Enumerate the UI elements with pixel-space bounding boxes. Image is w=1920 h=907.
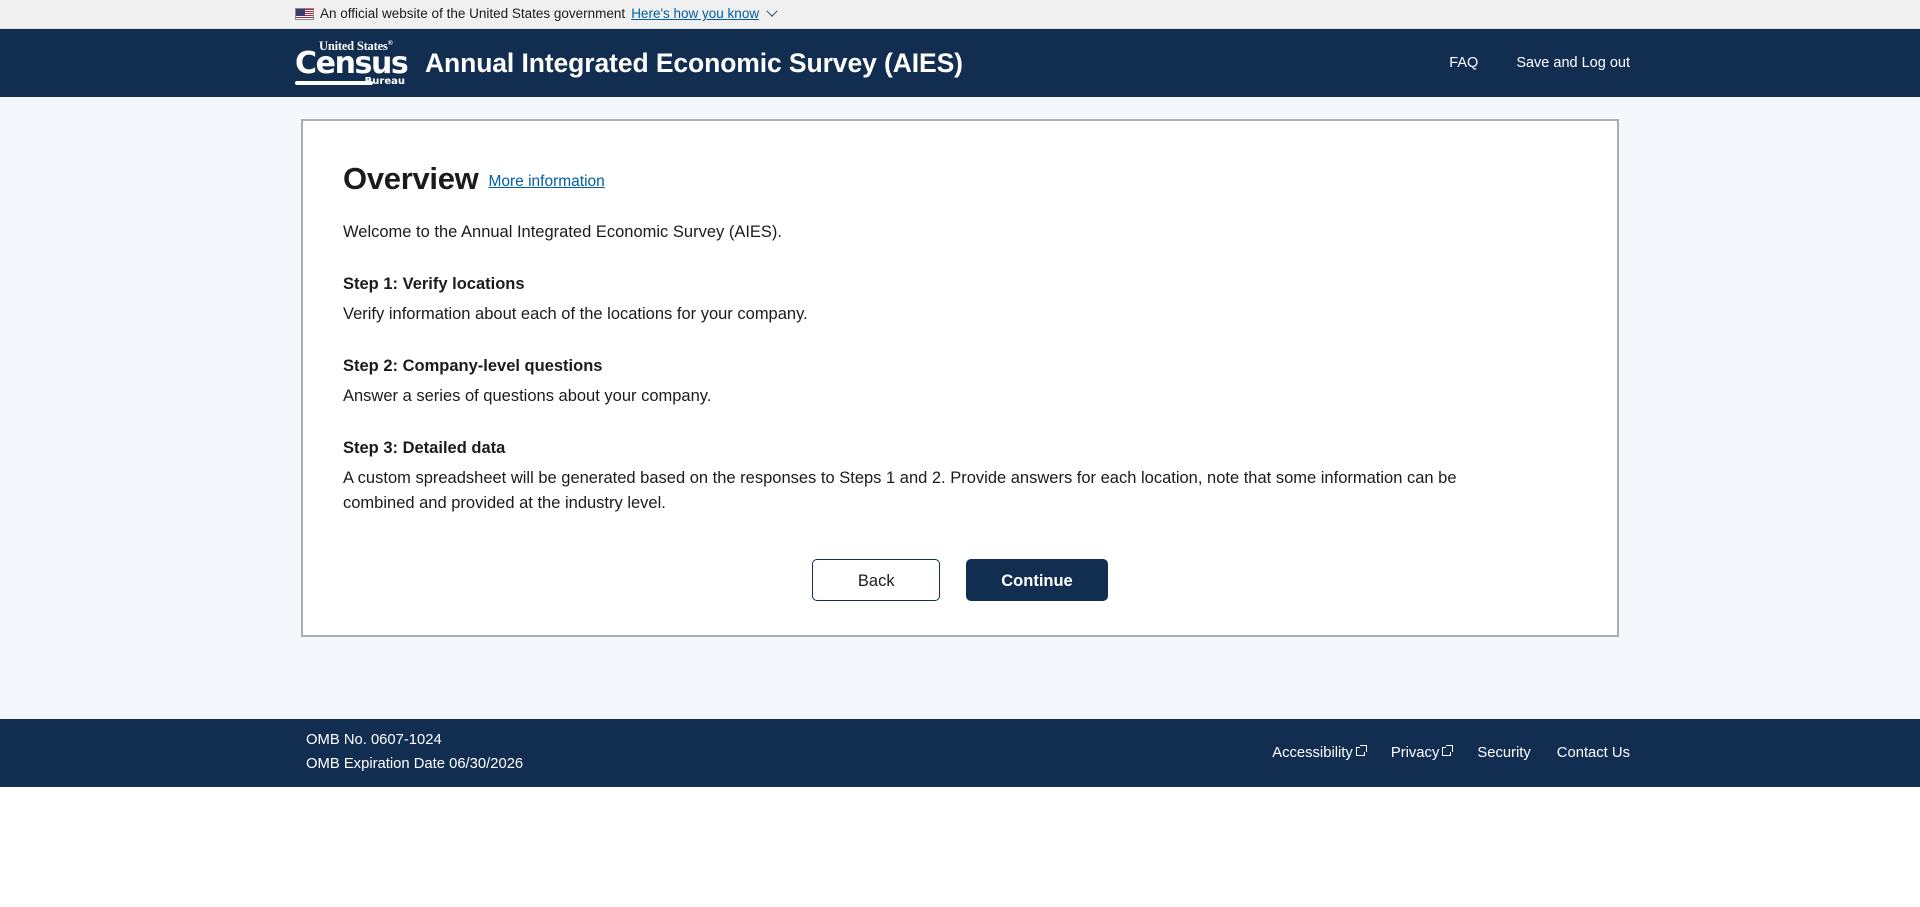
step-3-title: Step 3: Detailed data — [343, 438, 1577, 459]
save-and-log-out-link[interactable]: Save and Log out — [1516, 55, 1630, 71]
button-row: Back Continue — [343, 559, 1577, 601]
overview-heading-row: OverviewMore information — [343, 161, 1577, 197]
logo-census-text: Census — [295, 49, 407, 79]
step-1-description: Verify information about each of the loc… — [343, 302, 1523, 327]
step-3-block: Step 3: Detailed data A custom spreadshe… — [343, 438, 1577, 515]
footer-links: Accessibility Privacy Security Contact U… — [1272, 745, 1630, 761]
chevron-down-icon[interactable] — [766, 6, 777, 17]
gov-banner-text: An official website of the United States… — [320, 7, 625, 21]
census-bureau-logo[interactable]: United States® Census Bureau — [295, 40, 407, 86]
contact-us-link[interactable]: Contact Us — [1557, 745, 1630, 761]
step-2-title: Step 2: Company-level questions — [343, 356, 1577, 377]
privacy-link[interactable]: Privacy — [1391, 745, 1452, 761]
gov-banner: An official website of the United States… — [0, 0, 1920, 29]
omb-expiration-date: OMB Expiration Date 06/30/2026 — [306, 753, 523, 777]
security-link[interactable]: Security — [1477, 745, 1530, 761]
faq-link[interactable]: FAQ — [1449, 55, 1478, 71]
page-tail — [0, 787, 1920, 907]
overview-heading: Overview — [343, 161, 478, 196]
us-flag-icon — [295, 8, 314, 20]
omb-block: OMB No. 0607-1024 OMB Expiration Date 06… — [306, 729, 523, 776]
logo-bureau-text: Bureau — [365, 77, 405, 87]
step-3-description: A custom spreadsheet will be generated b… — [343, 466, 1523, 516]
header-nav: FAQ Save and Log out — [1449, 55, 1630, 71]
welcome-text: Welcome to the Annual Integrated Economi… — [343, 221, 1577, 244]
external-link-icon — [1356, 747, 1365, 756]
page-title: Annual Integrated Economic Survey (AIES) — [425, 48, 963, 79]
continue-button[interactable]: Continue — [966, 559, 1108, 601]
step-1-title: Step 1: Verify locations — [343, 274, 1577, 295]
page-body: OverviewMore information Welcome to the … — [0, 97, 1920, 719]
external-link-icon — [1442, 747, 1451, 756]
heres-how-you-know-link[interactable]: Here's how you know — [631, 7, 759, 21]
omb-number: OMB No. 0607-1024 — [306, 729, 523, 753]
logo-rule — [295, 81, 373, 85]
back-button[interactable]: Back — [812, 559, 940, 601]
step-2-description: Answer a series of questions about your … — [343, 384, 1523, 409]
overview-card: OverviewMore information Welcome to the … — [301, 119, 1619, 637]
privacy-label: Privacy — [1391, 745, 1440, 761]
step-2-block: Step 2: Company-level questions Answer a… — [343, 356, 1577, 408]
site-footer: OMB No. 0607-1024 OMB Expiration Date 06… — [0, 719, 1920, 787]
site-header: United States® Census Bureau Annual Inte… — [0, 29, 1920, 97]
accessibility-link[interactable]: Accessibility — [1272, 745, 1365, 761]
step-1-block: Step 1: Verify locations Verify informat… — [343, 274, 1577, 326]
more-information-link[interactable]: More information — [488, 173, 604, 190]
accessibility-label: Accessibility — [1272, 745, 1353, 761]
